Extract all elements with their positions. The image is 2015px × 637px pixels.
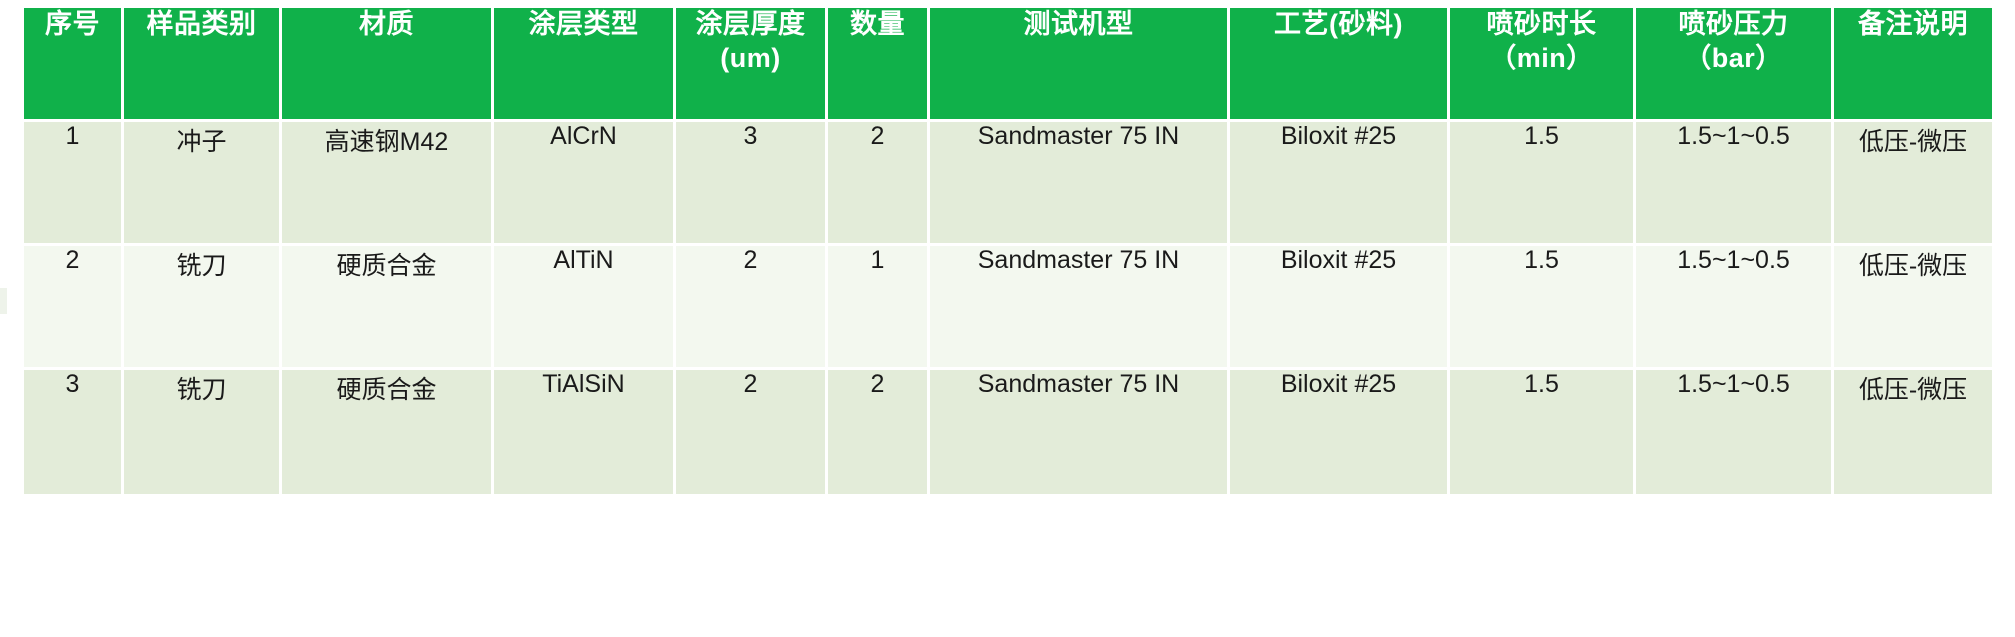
column-header-pressure: 喷砂压力 （bar） bbox=[1636, 8, 1834, 122]
cell-machine: Sandmaster 75 IN bbox=[930, 122, 1230, 246]
cell-machine: Sandmaster 75 IN bbox=[930, 370, 1230, 494]
cell-coating: TiAlSiN bbox=[494, 370, 676, 494]
cell-pressure: 1.5~1~0.5 bbox=[1636, 370, 1834, 494]
cell-thickness: 2 bbox=[676, 370, 828, 494]
column-header-category-label: 样品类别 bbox=[128, 8, 275, 42]
cell-time: 1.5 bbox=[1450, 122, 1636, 246]
table-container: 序号 样品类别 材质 涂层类型 涂层厚度 (um) bbox=[0, 0, 2015, 637]
cell-material: 高速钢M42 bbox=[282, 122, 494, 246]
cell-machine: Sandmaster 75 IN bbox=[930, 246, 1230, 370]
table-row: 3 铣刀 硬质合金 TiAlSiN 2 2 Sandmaster 75 IN B… bbox=[24, 370, 1992, 494]
sample-spec-table: 序号 样品类别 材质 涂层类型 涂层厚度 (um) bbox=[24, 8, 1992, 494]
cell-pressure: 1.5~1~0.5 bbox=[1636, 122, 1834, 246]
column-header-machine-label: 测试机型 bbox=[934, 8, 1223, 42]
cell-category: 冲子 bbox=[124, 122, 282, 246]
column-header-coating-label: 涂层类型 bbox=[498, 8, 669, 42]
table-row: 2 铣刀 硬质合金 AlTiN 2 1 Sandmaster 75 IN Bil… bbox=[24, 246, 1992, 370]
column-header-machine: 测试机型 bbox=[930, 8, 1230, 122]
cell-thickness: 2 bbox=[676, 246, 828, 370]
cell-index: 1 bbox=[24, 122, 124, 246]
column-header-process: 工艺(砂料) bbox=[1230, 8, 1450, 122]
column-header-process-label: 工艺(砂料) bbox=[1234, 8, 1443, 42]
cell-category: 铣刀 bbox=[124, 246, 282, 370]
column-header-coating: 涂层类型 bbox=[494, 8, 676, 122]
cell-pressure: 1.5~1~0.5 bbox=[1636, 246, 1834, 370]
column-header-note-label: 备注说明 bbox=[1838, 8, 1988, 42]
column-header-category: 样品类别 bbox=[124, 8, 282, 122]
table-body: 1 冲子 高速钢M42 AlCrN 3 2 Sandmaster 75 IN B… bbox=[24, 122, 1992, 494]
cell-note: 低压-微压 bbox=[1834, 122, 1992, 246]
cell-note: 低压-微压 bbox=[1834, 370, 1992, 494]
left-edge-artifact bbox=[0, 288, 7, 314]
cell-time: 1.5 bbox=[1450, 246, 1636, 370]
column-header-material: 材质 bbox=[282, 8, 494, 122]
cell-time: 1.5 bbox=[1450, 370, 1636, 494]
cell-quantity: 1 bbox=[828, 246, 930, 370]
column-header-note: 备注说明 bbox=[1834, 8, 1992, 122]
cell-process: Biloxit #25 bbox=[1230, 370, 1450, 494]
column-header-time-unit: （min） bbox=[1454, 42, 1629, 76]
cell-category: 铣刀 bbox=[124, 370, 282, 494]
cell-quantity: 2 bbox=[828, 370, 930, 494]
column-header-pressure-unit: （bar） bbox=[1640, 42, 1827, 76]
table-row: 1 冲子 高速钢M42 AlCrN 3 2 Sandmaster 75 IN B… bbox=[24, 122, 1992, 246]
cell-coating: AlTiN bbox=[494, 246, 676, 370]
cell-material: 硬质合金 bbox=[282, 246, 494, 370]
cell-process: Biloxit #25 bbox=[1230, 246, 1450, 370]
column-header-thickness-label: 涂层厚度 bbox=[680, 8, 821, 42]
column-header-thickness-unit: (um) bbox=[680, 42, 821, 76]
cell-index: 2 bbox=[24, 246, 124, 370]
table-header: 序号 样品类别 材质 涂层类型 涂层厚度 (um) bbox=[24, 8, 1992, 122]
column-header-thickness: 涂层厚度 (um) bbox=[676, 8, 828, 122]
cell-process: Biloxit #25 bbox=[1230, 122, 1450, 246]
column-header-index-label: 序号 bbox=[28, 8, 117, 42]
column-header-index: 序号 bbox=[24, 8, 124, 122]
cell-coating: AlCrN bbox=[494, 122, 676, 246]
column-header-material-label: 材质 bbox=[286, 8, 487, 42]
cell-material: 硬质合金 bbox=[282, 370, 494, 494]
cell-quantity: 2 bbox=[828, 122, 930, 246]
header-row: 序号 样品类别 材质 涂层类型 涂层厚度 (um) bbox=[24, 8, 1992, 122]
cell-index: 3 bbox=[24, 370, 124, 494]
cell-note: 低压-微压 bbox=[1834, 246, 1992, 370]
column-header-quantity-label: 数量 bbox=[832, 8, 923, 42]
column-header-time-label: 喷砂时长 bbox=[1454, 8, 1629, 42]
column-header-time: 喷砂时长 （min） bbox=[1450, 8, 1636, 122]
column-header-quantity: 数量 bbox=[828, 8, 930, 122]
cell-thickness: 3 bbox=[676, 122, 828, 246]
column-header-pressure-label: 喷砂压力 bbox=[1640, 8, 1827, 42]
